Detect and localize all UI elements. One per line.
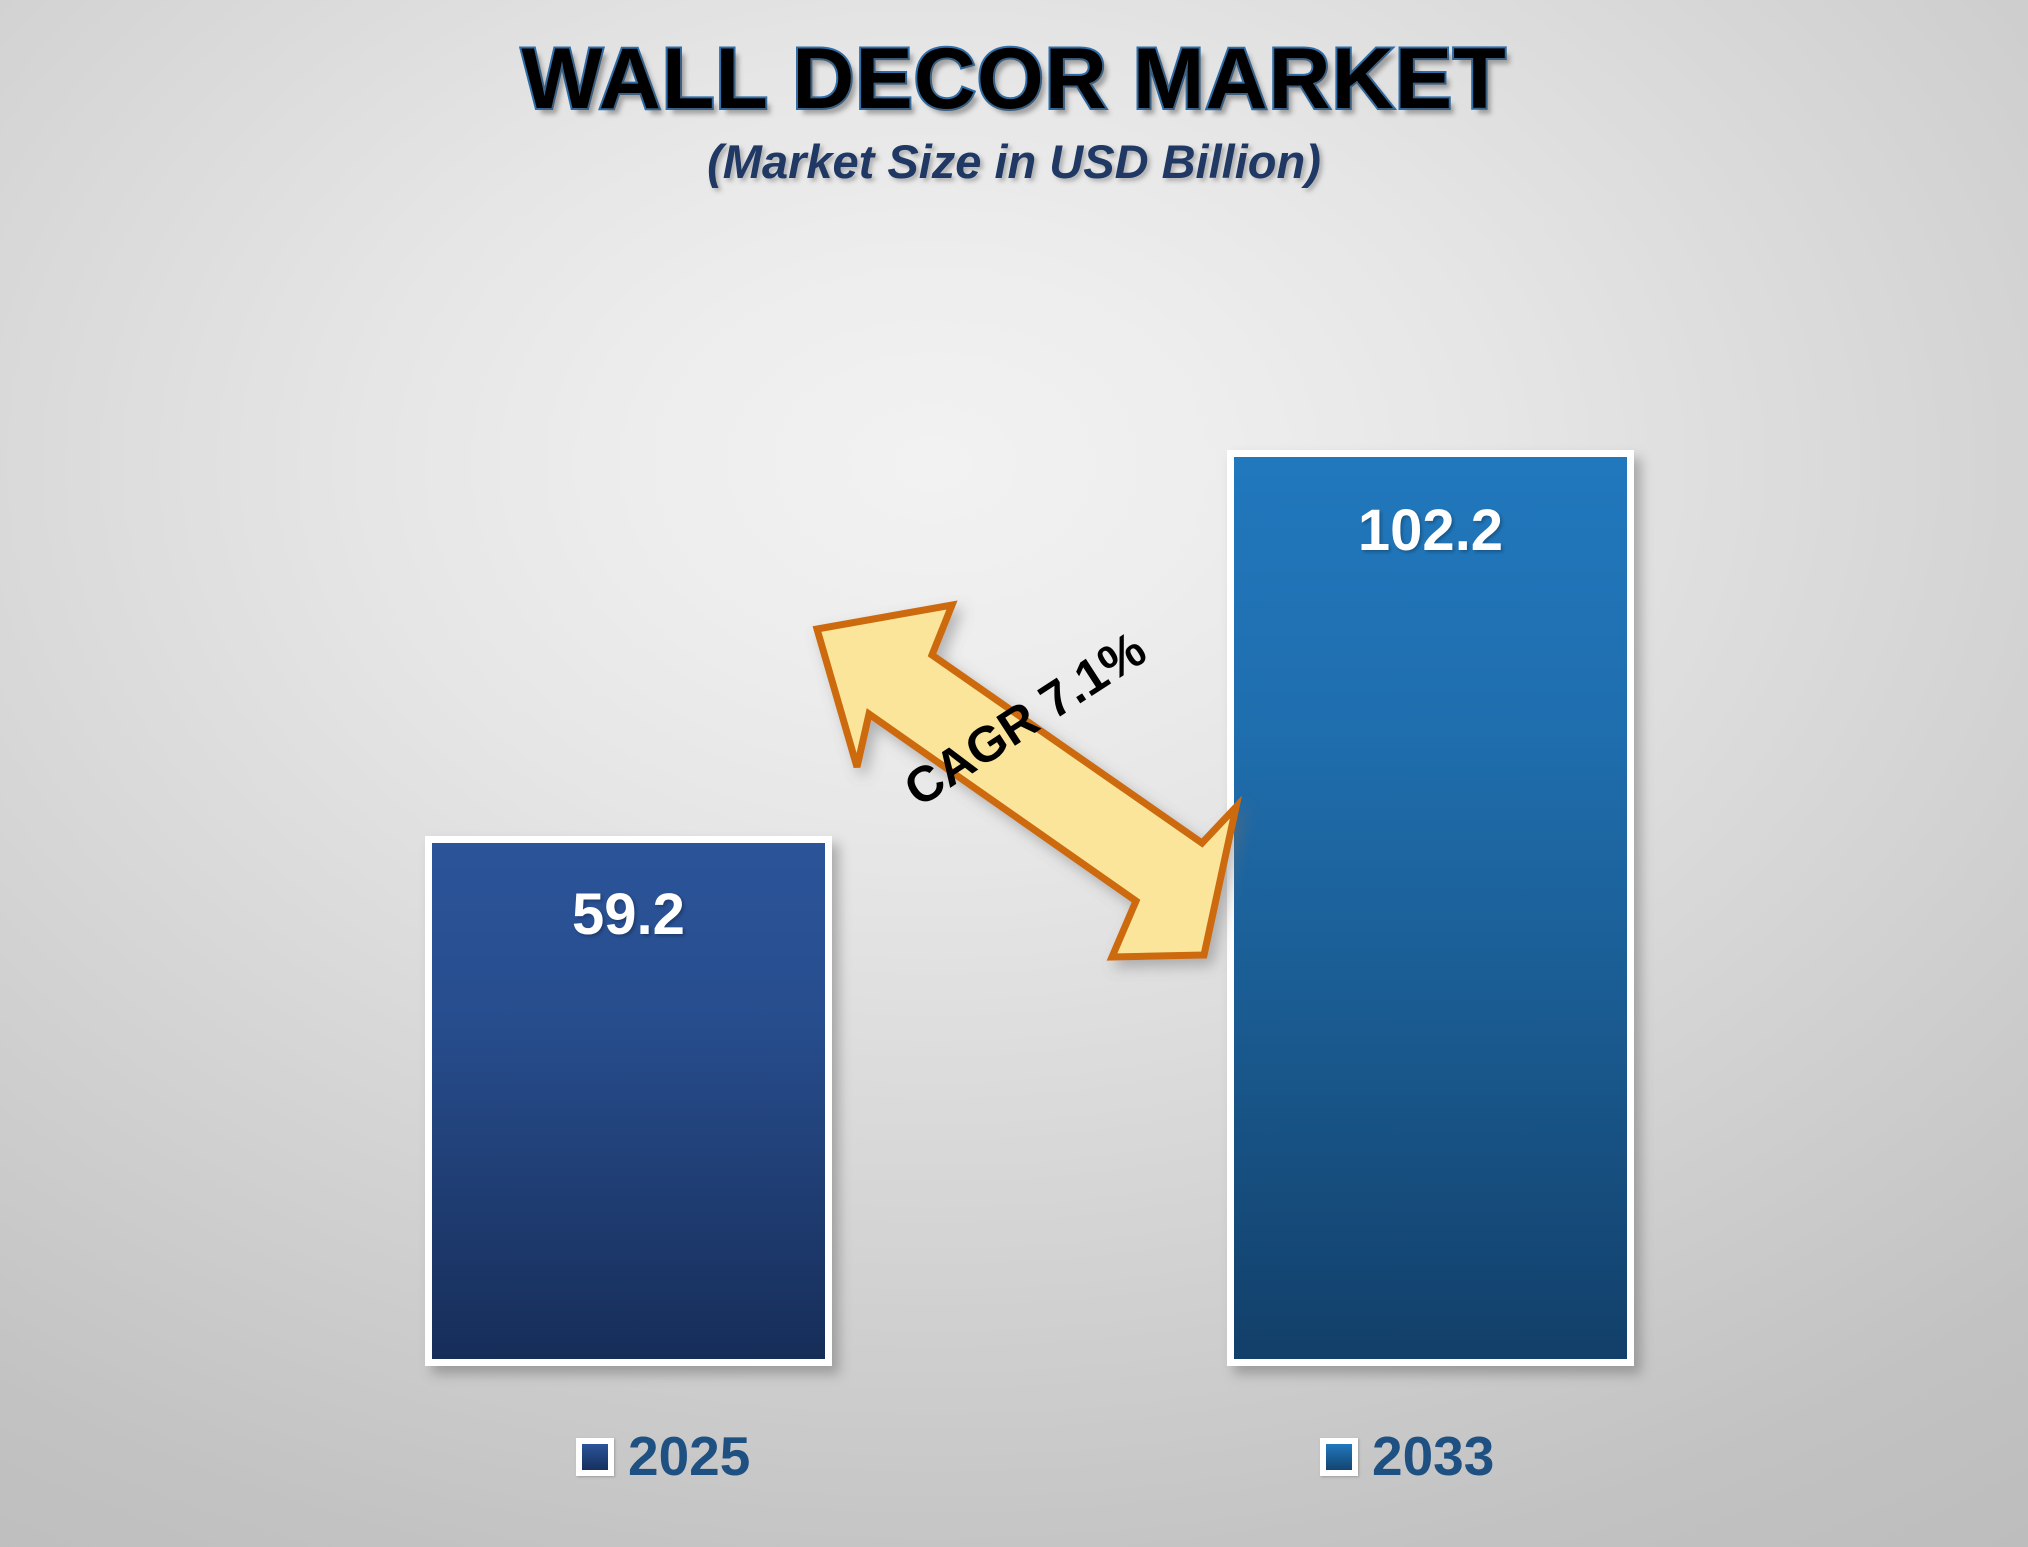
- legend-label-2025: 2025: [628, 1429, 750, 1484]
- bar-2033: 102.2: [1227, 450, 1634, 1366]
- legend-item-2033[interactable]: 2033: [1320, 1429, 1494, 1484]
- bar-value-2025: 59.2: [432, 881, 825, 948]
- legend-item-2025[interactable]: 2025: [576, 1429, 750, 1484]
- cagr-label: CAGR 7.1%: [871, 605, 1179, 833]
- chart-canvas: WALL DECOR MARKET (Market Size in USD Bi…: [0, 0, 2028, 1547]
- bar-value-2033: 102.2: [1234, 497, 1627, 564]
- page-title: WALL DECOR MARKET: [0, 36, 2028, 122]
- chart-subtitle: (Market Size in USD Billion): [0, 134, 2028, 189]
- legend-swatch-2025-icon: [576, 1438, 614, 1476]
- legend-label-2033: 2033: [1372, 1429, 1494, 1484]
- title-block: WALL DECOR MARKET (Market Size in USD Bi…: [0, 36, 2028, 189]
- cagr-arrow-icon: [790, 595, 1270, 995]
- legend-swatch-2033-icon: [1320, 1438, 1358, 1476]
- bar-2025: 59.2: [425, 836, 832, 1366]
